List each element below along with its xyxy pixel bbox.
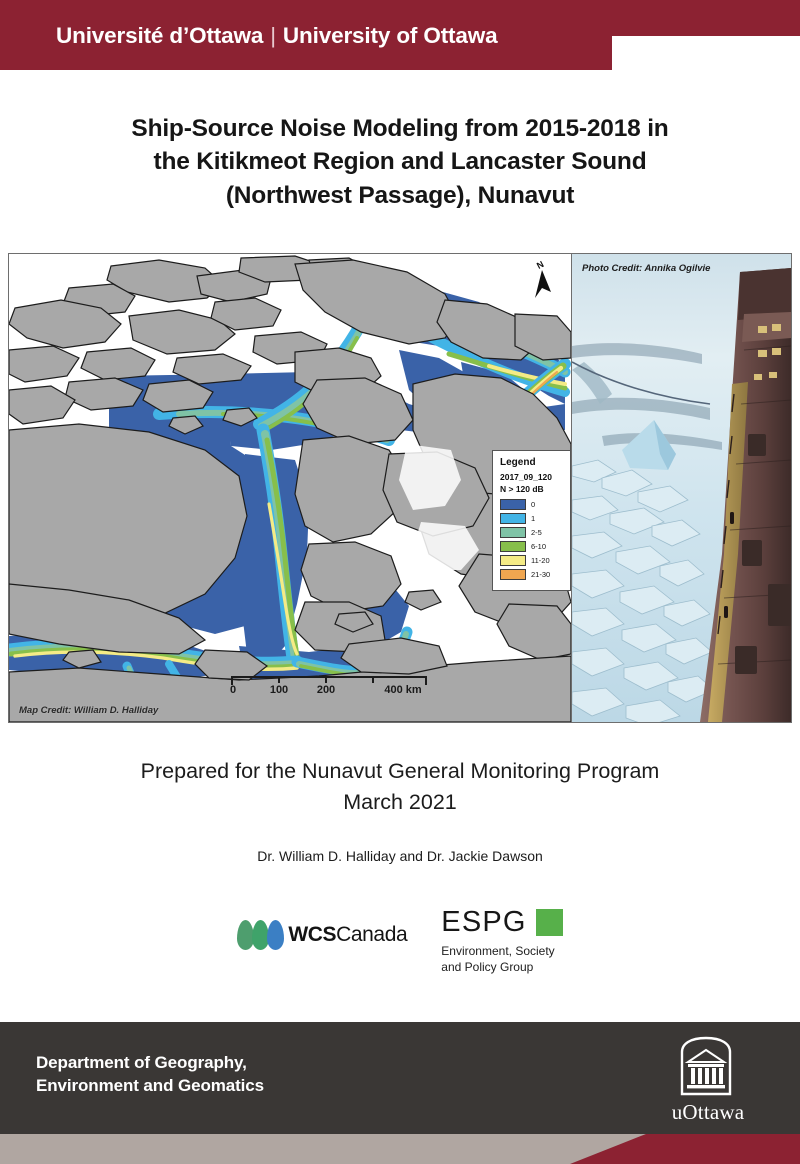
legend-swatch <box>500 499 526 510</box>
legend-row: 1 <box>500 513 565 524</box>
department-line-2: Environment and Geomatics <box>36 1075 264 1098</box>
university-name-french: Université d’Ottawa <box>56 23 263 49</box>
legend-swatch <box>500 527 526 538</box>
wcs-canada-logo: WCSCanada <box>237 920 407 950</box>
map-graphic <box>9 254 571 722</box>
bottom-accent-strip <box>0 1134 800 1164</box>
wcs-leaf-mark-icon <box>237 920 284 950</box>
bottom-maroon-wedge <box>570 1134 800 1164</box>
legend-row: 11-20 <box>500 555 565 566</box>
title-line-2: the Kitikmeot Region and Lancaster Sound <box>70 145 730 178</box>
espg-logo: ESPG Environment, Society and Policy Gro… <box>441 908 562 975</box>
wcs-wordmark: WCSCanada <box>288 923 407 947</box>
legend-label: 2-5 <box>531 528 542 537</box>
legend-row: 2-5 <box>500 527 565 538</box>
report-date: March 2021 <box>60 787 740 818</box>
legend-metric: N > 120 dB <box>500 484 565 496</box>
cover-photo: Photo Credit: Annika Ogilvie <box>571 254 791 722</box>
cover-figure: N Legend 2017_09_120 N > 120 dB 012-56-1… <box>8 253 792 723</box>
north-arrow-icon: N <box>529 260 557 302</box>
university-header-bar: Université d’Ottawa | University of Otta… <box>0 0 800 70</box>
photo-graphic <box>572 254 791 722</box>
wordmark-separator: | <box>270 23 276 49</box>
department-line-1: Department of Geography, <box>36 1052 264 1075</box>
legend-swatch <box>500 541 526 552</box>
scale-label-0: 0 <box>230 684 236 696</box>
legend-swatch <box>500 513 526 524</box>
university-wordmark: Université d’Ottawa | University of Otta… <box>56 20 497 52</box>
espg-square-icon <box>536 909 563 936</box>
partner-logos: WCSCanada ESPG Environment, Society and … <box>0 908 800 1000</box>
prepared-for-line: Prepared for the Nunavut General Monitor… <box>60 756 740 787</box>
legend-label: 0 <box>531 500 535 509</box>
scale-bar-tick-1 <box>278 676 280 683</box>
title-line-1: Ship-Source Noise Modeling from 2015-201… <box>70 112 730 145</box>
wcs-country: Canada <box>336 923 407 946</box>
legend-label: 11-20 <box>531 556 550 565</box>
scale-label-400: 400 km <box>384 684 421 696</box>
department-name: Department of Geography, Environment and… <box>36 1052 264 1097</box>
legend-title: Legend <box>500 457 565 468</box>
wcs-leaf-3-icon <box>267 920 284 950</box>
legend-swatch <box>500 555 526 566</box>
legend-row: 6-10 <box>500 541 565 552</box>
legend-row: 21-30 <box>500 569 565 580</box>
university-name-english: University of Ottawa <box>283 23 498 49</box>
noise-model-map: N Legend 2017_09_120 N > 120 dB 012-56-1… <box>9 254 571 722</box>
scale-label-100: 100 <box>270 684 288 696</box>
espg-top-row: ESPG <box>441 908 562 937</box>
uottawa-crest-icon <box>678 1036 734 1098</box>
espg-subtitle: Environment, Society and Policy Group <box>441 943 562 975</box>
legend-label: 6-10 <box>531 542 546 551</box>
uottawa-wordmark: uOttawa <box>662 1100 754 1125</box>
prepared-for-block: Prepared for the Nunavut General Monitor… <box>60 756 740 817</box>
scale-label-200: 200 <box>317 684 335 696</box>
wcs-acronym: WCS <box>288 923 336 946</box>
legend-row: 0 <box>500 499 565 510</box>
map-scale-bar: 0 100 200 400 km <box>231 676 423 700</box>
photo-credit-text: Photo Credit: Annika Ogilvie <box>582 263 710 274</box>
espg-subtitle-line-1: Environment, Society <box>441 943 562 959</box>
scale-bar-tick-2 <box>325 676 327 683</box>
scale-bar-tick-3 <box>372 676 374 683</box>
legend-entries: 012-56-1011-2021-30 <box>500 499 565 580</box>
espg-acronym: ESPG <box>441 908 526 937</box>
legend-dataset: 2017_09_120 <box>500 472 565 484</box>
legend-label: 1 <box>531 514 535 523</box>
title-line-3: (Northwest Passage), Nunavut <box>70 179 730 212</box>
legend-label: 21-30 <box>531 570 550 579</box>
map-legend: Legend 2017_09_120 N > 120 dB 012-56-101… <box>492 450 571 591</box>
map-credit-text: Map Credit: William D. Halliday <box>19 705 158 716</box>
page-title: Ship-Source Noise Modeling from 2015-201… <box>70 112 730 212</box>
espg-subtitle-line-2: and Policy Group <box>441 959 562 975</box>
legend-swatch <box>500 569 526 580</box>
authors-line: Dr. William D. Halliday and Dr. Jackie D… <box>60 848 740 864</box>
